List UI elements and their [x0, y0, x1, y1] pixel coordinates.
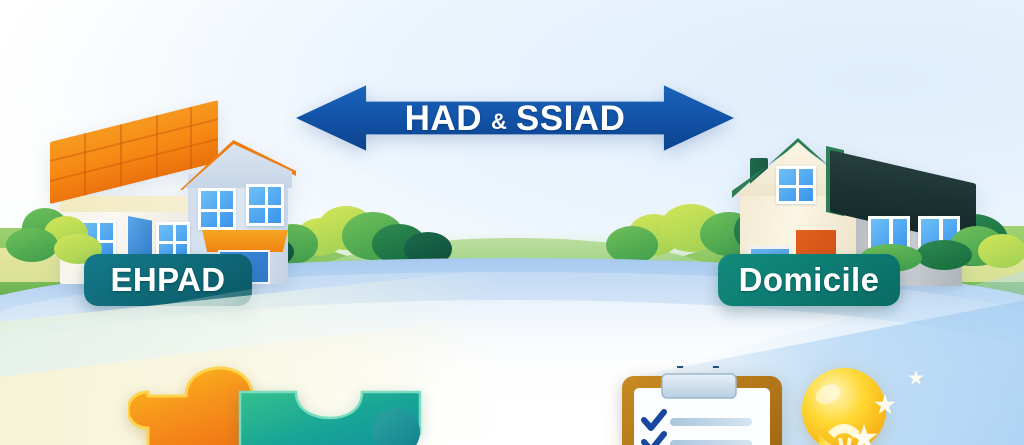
bush-icon	[6, 228, 58, 262]
window-icon	[776, 166, 816, 204]
clipboard-checklist-icon	[618, 366, 786, 445]
arrow-label-ampersand: &	[491, 111, 507, 133]
had-ssiad-double-arrow: HAD & SSIAD	[296, 84, 734, 152]
arrow-label-ssiad: SSIAD	[516, 101, 625, 136]
bush-icon	[978, 234, 1024, 268]
window-icon	[198, 188, 236, 230]
badge-ehpad-label: EHPAD	[110, 261, 225, 299]
ehpad-awning	[202, 230, 288, 252]
window-icon	[246, 184, 284, 226]
badge-domicile: Domicile	[718, 254, 900, 306]
arrow-label: HAD & SSIAD	[296, 84, 734, 152]
arrow-label-had: HAD	[405, 101, 482, 136]
infographic-scene: HAD & SSIAD EHPAD Domicile	[0, 0, 1024, 445]
bush-icon	[916, 240, 972, 270]
ehpad-wall-band	[60, 196, 190, 212]
badge-domicile-label: Domicile	[739, 261, 880, 299]
